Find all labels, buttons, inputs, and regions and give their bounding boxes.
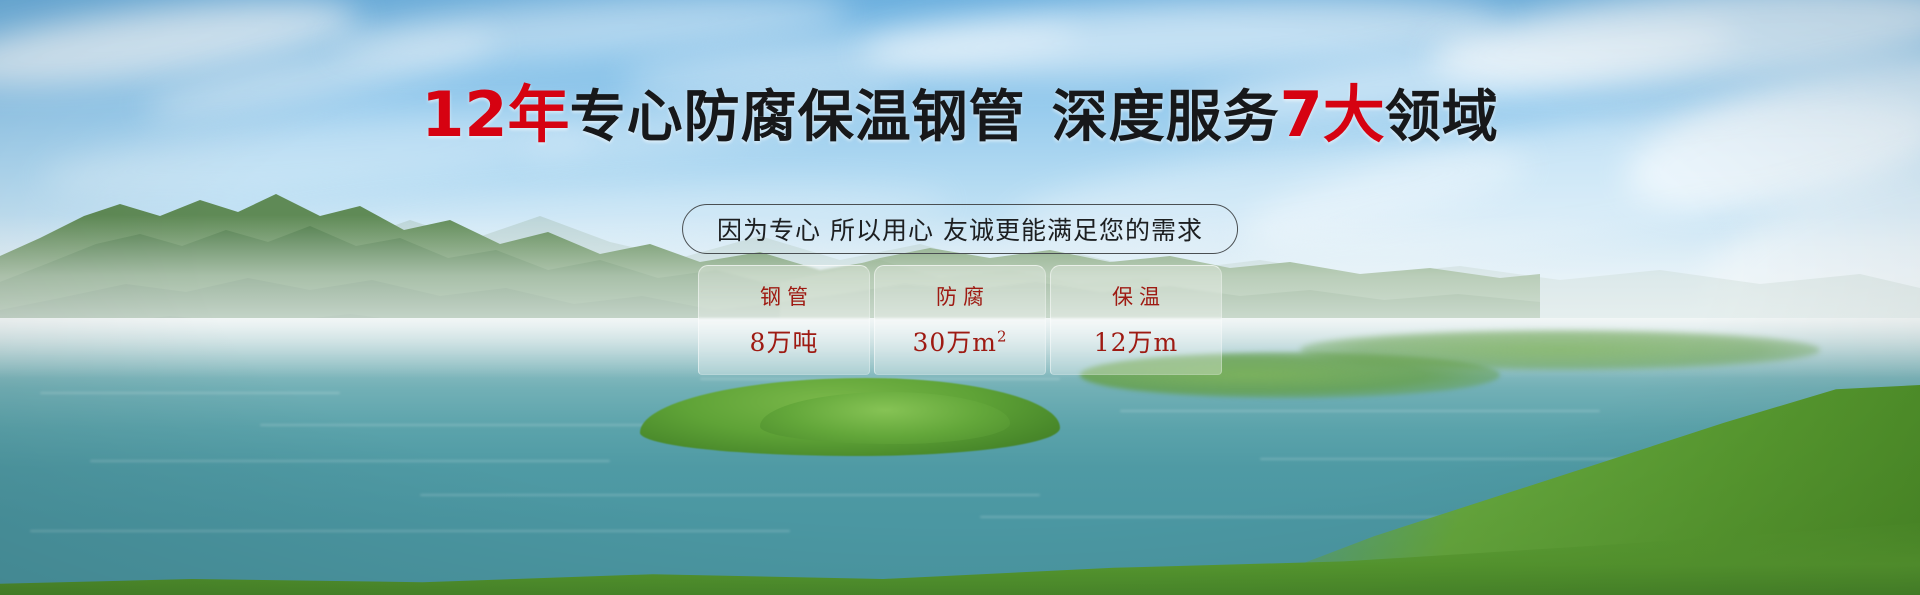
stat-label: 防腐 [930, 281, 990, 311]
subtitle-text: 因为专心 所以用心 友诚更能满足您的需求 [717, 211, 1203, 247]
banner-content: 12年专心防腐保温钢管深度服务7大领域 因为专心 所以用心 友诚更能满足您的需求… [0, 0, 1920, 595]
stat-value-superscript: 2 [997, 328, 1008, 346]
stat-card-anticorrosion[interactable]: 防腐 30万m2 [874, 265, 1046, 375]
stat-label: 钢管 [754, 281, 814, 311]
stat-card-steel-pipe[interactable]: 钢管 8万吨 [698, 265, 870, 375]
stat-value-text: 12万m [1094, 328, 1179, 357]
stat-card-insulation[interactable]: 保温 12万m [1050, 265, 1222, 375]
stat-value: 8万吨 [750, 323, 819, 359]
headline-text-secondary: 深度服务 [1052, 85, 1280, 150]
stat-value-text: 8万吨 [750, 328, 819, 357]
headline-fields-highlight: 7大 [1280, 78, 1385, 151]
banner-headline: 12年专心防腐保温钢管深度服务7大领域 [0, 84, 1920, 146]
hero-banner: 12年专心防腐保温钢管深度服务7大领域 因为专心 所以用心 友诚更能满足您的需求… [0, 0, 1920, 595]
headline-text-primary: 专心防腐保温钢管 [570, 85, 1026, 150]
stats-card-group: 钢管 8万吨 防腐 30万m2 保温 12万m [698, 265, 1222, 375]
stat-value: 12万m [1094, 323, 1179, 359]
headline-years-highlight: 12年 [421, 78, 569, 151]
subtitle-pill: 因为专心 所以用心 友诚更能满足您的需求 [682, 204, 1238, 254]
headline-text-tertiary: 领域 [1385, 85, 1499, 150]
stat-label: 保温 [1106, 281, 1166, 311]
stat-value-text: 30万m [912, 328, 997, 357]
stat-value: 30万m2 [912, 323, 1007, 359]
